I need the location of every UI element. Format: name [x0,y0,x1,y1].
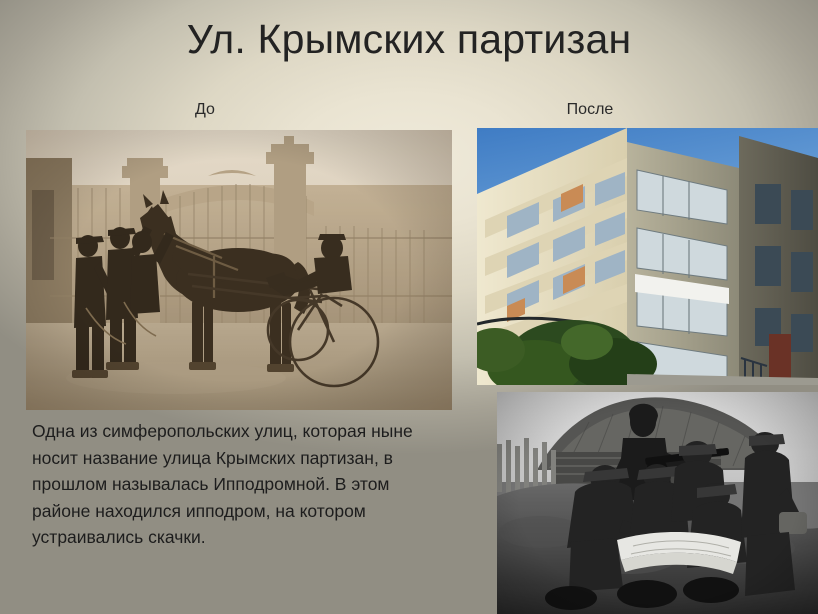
page-title: Ул. Крымских партизан [0,14,818,64]
photo-after-apartment-buildings [477,128,818,385]
photo-before-artwork [26,130,452,410]
photo-partisans-artwork [497,392,818,614]
slide-canvas: Ул. Крымских партизан До После [0,0,818,614]
photo-after-artwork [477,128,818,385]
column-label-before: До [160,100,250,120]
photo-partisans-with-map [497,392,818,614]
caption-text: Одна из симферопольских улиц, которая ны… [32,418,432,551]
column-label-after: После [545,100,635,120]
photo-before-horse-sulky [26,130,452,410]
